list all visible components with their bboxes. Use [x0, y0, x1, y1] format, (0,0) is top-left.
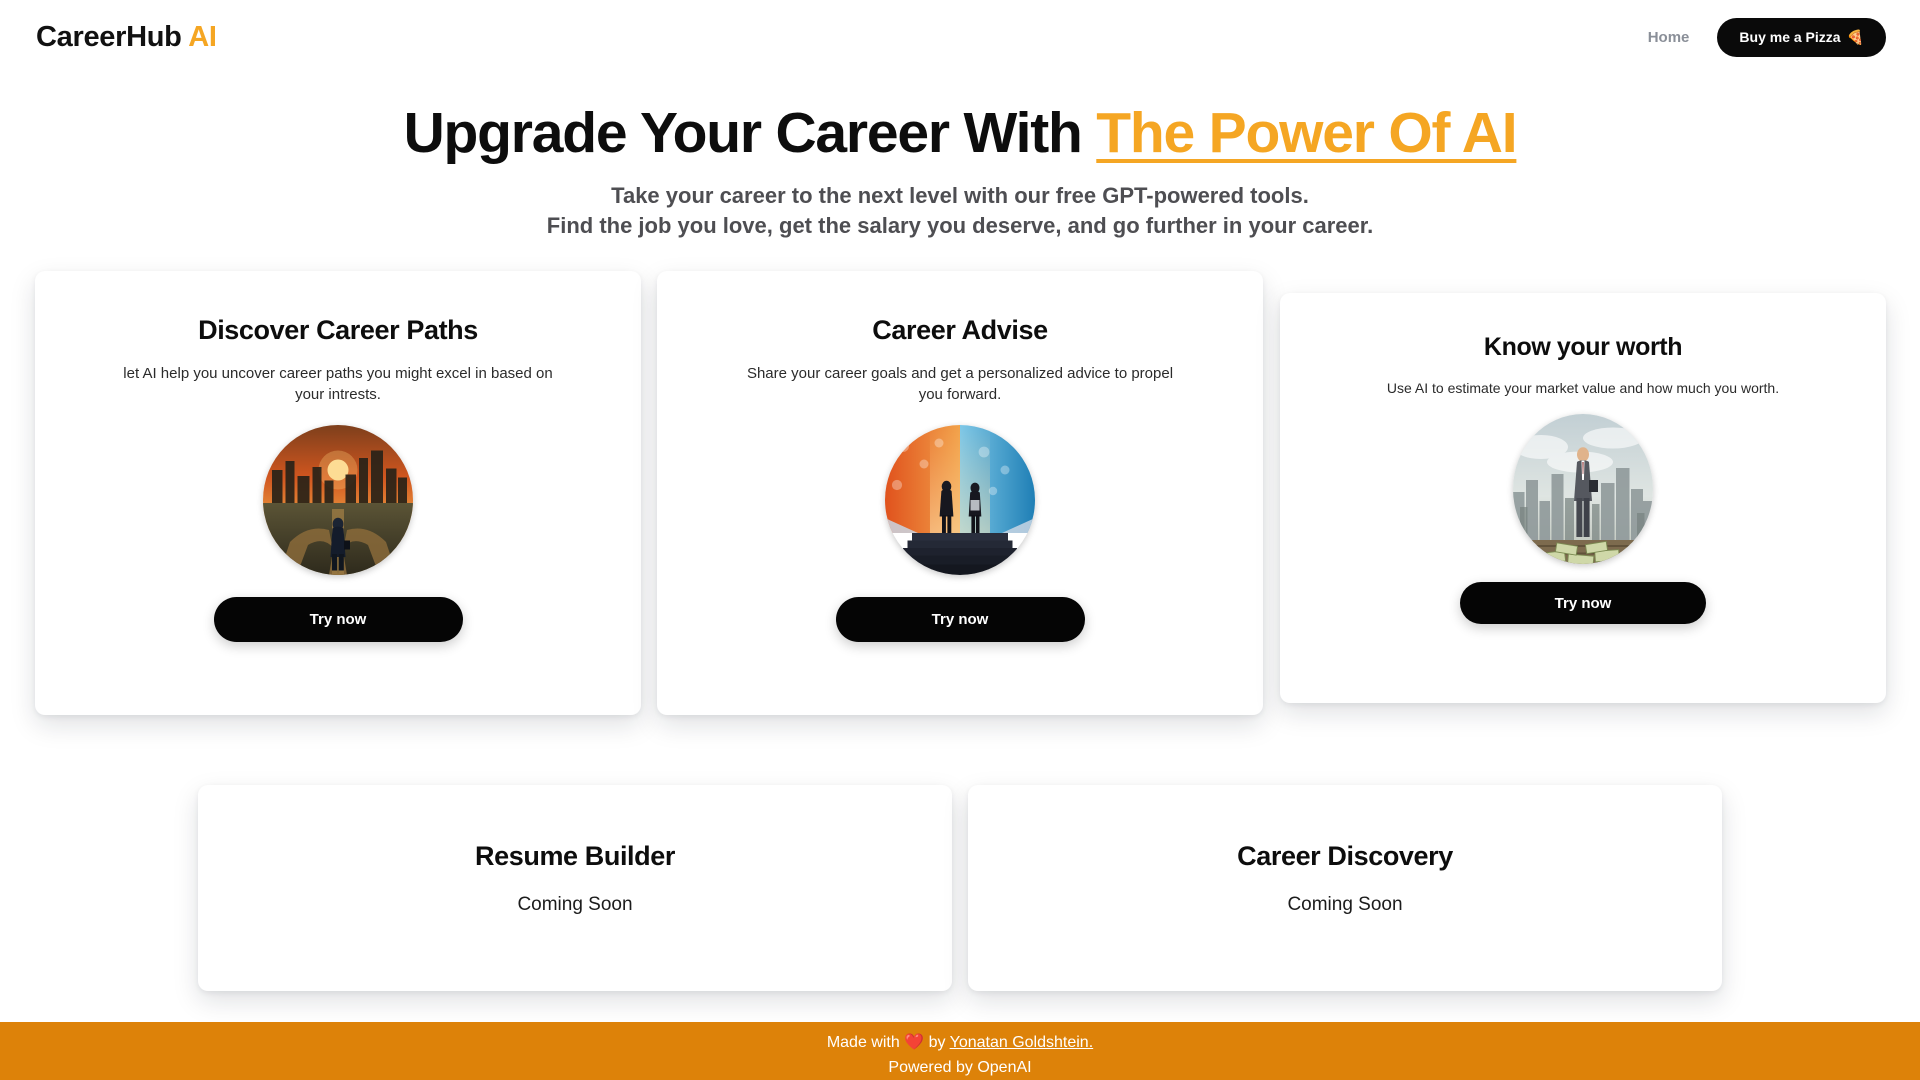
feature-card-description: Use AI to estimate your market value and…: [1357, 379, 1809, 399]
know-your-worth-image: [1513, 414, 1653, 564]
feature-card-row: Discover Career Paths let AI help you un…: [0, 263, 1920, 713]
coming-soon-card-resume-builder[interactable]: Resume Builder Coming Soon: [198, 785, 952, 991]
page-title-plain: Upgrade Your Career With: [404, 101, 1097, 165]
coming-soon-title: Career Discovery: [1237, 841, 1453, 872]
footer-author-link[interactable]: Yonatan Goldshtein.: [950, 1034, 1094, 1051]
feature-card-description: let AI help you uncover career paths you…: [88, 363, 588, 406]
hero-subtitle-line-2: Find the job you love, get the salary yo…: [0, 211, 1920, 241]
feature-card-know-your-worth[interactable]: Know your worth Use AI to estimate your …: [1280, 293, 1886, 703]
footer-powered-by-line: Powered by OpenAI: [0, 1056, 1920, 1080]
hero-section: Upgrade Your Career With The Power Of AI…: [0, 74, 1920, 241]
coming-soon-title: Resume Builder: [475, 841, 675, 872]
navbar-right-group: Home Buy me a Pizza 🍕: [1648, 18, 1886, 57]
footer-by-label: by: [924, 1034, 950, 1051]
brand-name: CareerHub: [36, 21, 182, 53]
coming-soon-card-career-discovery[interactable]: Career Discovery Coming Soon: [968, 785, 1722, 991]
feature-card-title: Career Advise: [872, 315, 1047, 346]
heart-icon: ❤️: [904, 1034, 924, 1051]
feature-card-career-advise[interactable]: Career Advise Share your career goals an…: [657, 271, 1263, 715]
career-advise-stairs-image: [885, 425, 1035, 575]
coming-soon-card-row: Resume Builder Coming Soon Career Discov…: [0, 785, 1920, 995]
page-title-accent: The Power Of AI: [1096, 101, 1516, 165]
page-title: Upgrade Your Career With The Power Of AI: [0, 102, 1920, 165]
footer-made-with-label: Made with: [827, 1034, 904, 1051]
career-crossroads-image: [263, 425, 413, 575]
buy-me-a-pizza-button[interactable]: Buy me a Pizza 🍕: [1717, 18, 1886, 57]
navbar: CareerHub AI Home Buy me a Pizza 🍕: [0, 0, 1920, 74]
brand-accent: AI: [188, 21, 216, 53]
coming-soon-status: Coming Soon: [517, 894, 632, 916]
footer: Made with ❤️ by Yonatan Goldshtein. Powe…: [0, 1022, 1920, 1080]
footer-credit-line: Made with ❤️ by Yonatan Goldshtein.: [0, 1031, 1920, 1056]
feature-card-title: Discover Career Paths: [198, 315, 478, 346]
brand-logo[interactable]: CareerHub AI: [36, 21, 217, 54]
hero-subtitle-line-1: Take your career to the next level with …: [0, 181, 1920, 211]
hero-subtitle: Take your career to the next level with …: [0, 181, 1920, 241]
feature-card-discover-career-paths[interactable]: Discover Career Paths let AI help you un…: [35, 271, 641, 715]
nav-link-home[interactable]: Home: [1648, 29, 1690, 46]
coming-soon-status: Coming Soon: [1287, 894, 1402, 916]
buy-me-a-pizza-label: Buy me a Pizza: [1739, 29, 1840, 45]
try-now-button[interactable]: Try now: [836, 597, 1085, 642]
feature-card-description: Share your career goals and get a person…: [710, 363, 1210, 406]
try-now-button[interactable]: Try now: [1460, 582, 1706, 624]
feature-card-title: Know your worth: [1484, 333, 1682, 362]
try-now-button[interactable]: Try now: [214, 597, 463, 642]
pizza-slice-icon: 🍕: [1847, 29, 1864, 46]
